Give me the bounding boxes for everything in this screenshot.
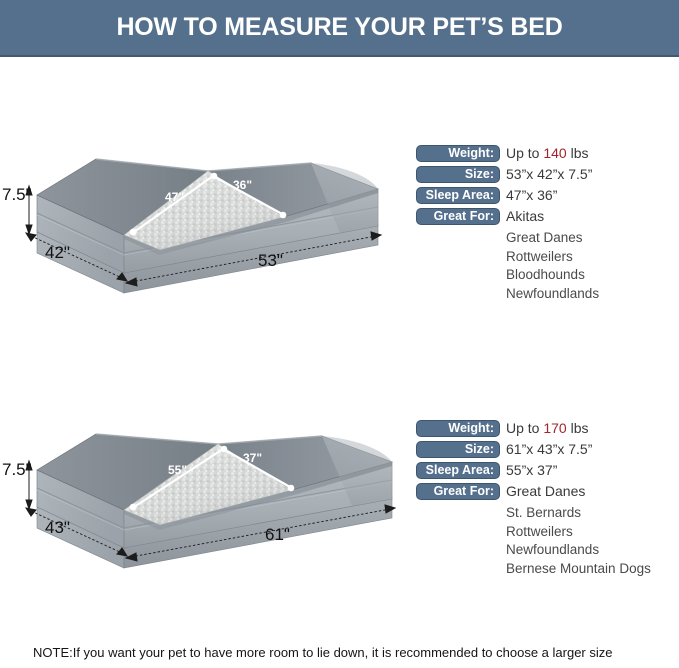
spec-label-size: Size: xyxy=(416,441,500,458)
breed-item: Rottweilers xyxy=(506,523,676,542)
spec-label-great-for: Great For: xyxy=(416,483,500,500)
breed-item: Great Danes xyxy=(506,483,585,500)
inner-depth-label: 37" xyxy=(243,451,262,465)
width-label: 53" xyxy=(258,251,283,270)
weight-number: 140 xyxy=(543,145,566,161)
page-title: HOW TO MEASURE YOUR PET’S BED xyxy=(0,0,679,55)
spec-row-size: Size: 61”x 43”x 7.5” xyxy=(416,441,676,458)
weight-prefix: Up to xyxy=(506,145,543,161)
weight-number: 170 xyxy=(543,420,566,436)
width-label: 61" xyxy=(265,525,290,544)
spec-value-sleep-area: 55”x 37” xyxy=(506,462,557,479)
spec-panel-xlarge: Weight: Up to 170 lbs Size: 61”x 43”x 7.… xyxy=(416,420,676,578)
spec-label-weight: Weight: xyxy=(416,420,500,437)
weight-prefix: Up to xyxy=(506,420,543,436)
inner-depth-label: 36" xyxy=(233,178,252,192)
spec-label-sleep-area: Sleep Area: xyxy=(416,462,500,479)
breed-item: St. Bernards xyxy=(506,504,676,523)
page-header-banner: HOW TO MEASURE YOUR PET’S BED xyxy=(0,0,679,57)
bed-diagram-xlarge: 55" 37" 7.5" 43" 61" xyxy=(0,400,412,600)
spec-value-size: 61”x 43”x 7.5” xyxy=(506,441,592,458)
spec-label-weight: Weight: xyxy=(416,145,500,162)
spec-row-weight: Weight: Up to 170 lbs xyxy=(416,420,676,437)
spec-row-great-for: Great For: Akitas xyxy=(416,208,676,225)
breed-item: Akitas xyxy=(506,208,544,225)
spec-label-great-for: Great For: xyxy=(416,208,500,225)
spec-value-weight: Up to 170 lbs xyxy=(506,420,589,437)
spec-value-size: 53”x 42”x 7.5” xyxy=(506,166,592,183)
breed-list: Great Danes Rottweilers Bloodhounds Newf… xyxy=(506,229,676,303)
spec-label-sleep-area: Sleep Area: xyxy=(416,187,500,204)
weight-suffix: lbs xyxy=(567,145,589,161)
spec-row-sleep-area: Sleep Area: 55”x 37” xyxy=(416,462,676,479)
product-section-large: 47" 36" 7.5" 42" 53" xyxy=(0,125,679,340)
spec-row-sleep-area: Sleep Area: 47”x 36” xyxy=(416,187,676,204)
inner-width-label: 55" xyxy=(168,463,187,477)
depth-label: 42" xyxy=(45,243,70,262)
breed-item: Bloodhounds xyxy=(506,266,676,285)
breed-item: Newfoundlands xyxy=(506,285,676,304)
breed-item: Great Danes xyxy=(506,229,676,248)
weight-suffix: lbs xyxy=(567,420,589,436)
height-label: 7.5" xyxy=(2,460,32,479)
footer-note: NOTE:If you want your pet to have more r… xyxy=(33,645,673,660)
spec-row-weight: Weight: Up to 140 lbs xyxy=(416,145,676,162)
spec-row-great-for: Great For: Great Danes xyxy=(416,483,676,500)
spec-panel-large: Weight: Up to 140 lbs Size: 53”x 42”x 7.… xyxy=(416,145,676,303)
spec-label-size: Size: xyxy=(416,166,500,183)
depth-label: 43" xyxy=(45,518,70,537)
bed-diagram-large: 47" 36" 7.5" 42" 53" xyxy=(0,125,412,325)
spec-value-sleep-area: 47”x 36” xyxy=(506,187,557,204)
inner-width-label: 47" xyxy=(165,190,184,204)
breed-item: Rottweilers xyxy=(506,248,676,267)
height-label: 7.5" xyxy=(2,185,32,204)
breed-list: St. Bernards Rottweilers Newfoundlands B… xyxy=(506,504,676,578)
spec-row-size: Size: 53”x 42”x 7.5” xyxy=(416,166,676,183)
breed-item: Bernese Mountain Dogs xyxy=(506,560,676,579)
breed-item: Newfoundlands xyxy=(506,541,676,560)
spec-value-weight: Up to 140 lbs xyxy=(506,145,589,162)
product-section-xlarge: 55" 37" 7.5" 43" 61" Weight: xyxy=(0,400,679,620)
